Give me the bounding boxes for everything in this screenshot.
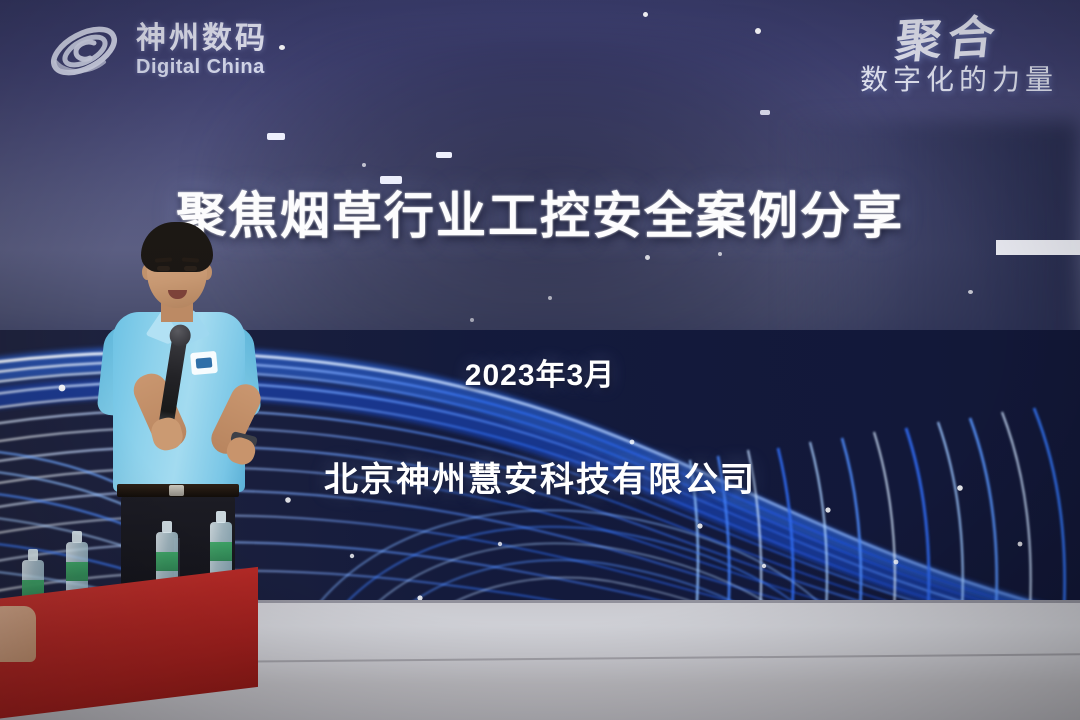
digital-china-logo: 神州数码 Digital China	[42, 18, 268, 84]
event-calligraphy: 聚合	[893, 13, 1003, 64]
speaker-eye-left	[157, 266, 170, 271]
speaker-chest-badge	[190, 351, 218, 375]
digital-china-wordmark: 神州数码 Digital China	[136, 24, 268, 79]
speaker-figure	[95, 222, 285, 622]
swirl-galaxy-icon	[42, 18, 126, 84]
speaker-eye-right	[184, 266, 197, 271]
stage-photo-scene: 神州数码 Digital China 聚合 数字化的力量 聚焦烟草行业工控安全案…	[0, 0, 1080, 720]
foreground-table	[0, 580, 258, 720]
speaker-belt-buckle	[169, 485, 184, 496]
juhe-event-logo: 聚合 数字化的力量	[860, 16, 1058, 98]
speaker-hair	[141, 222, 213, 272]
audience-member	[0, 606, 36, 662]
brand-name-chinese: 神州数码	[136, 24, 268, 54]
brand-name-english: Digital China	[136, 57, 268, 77]
